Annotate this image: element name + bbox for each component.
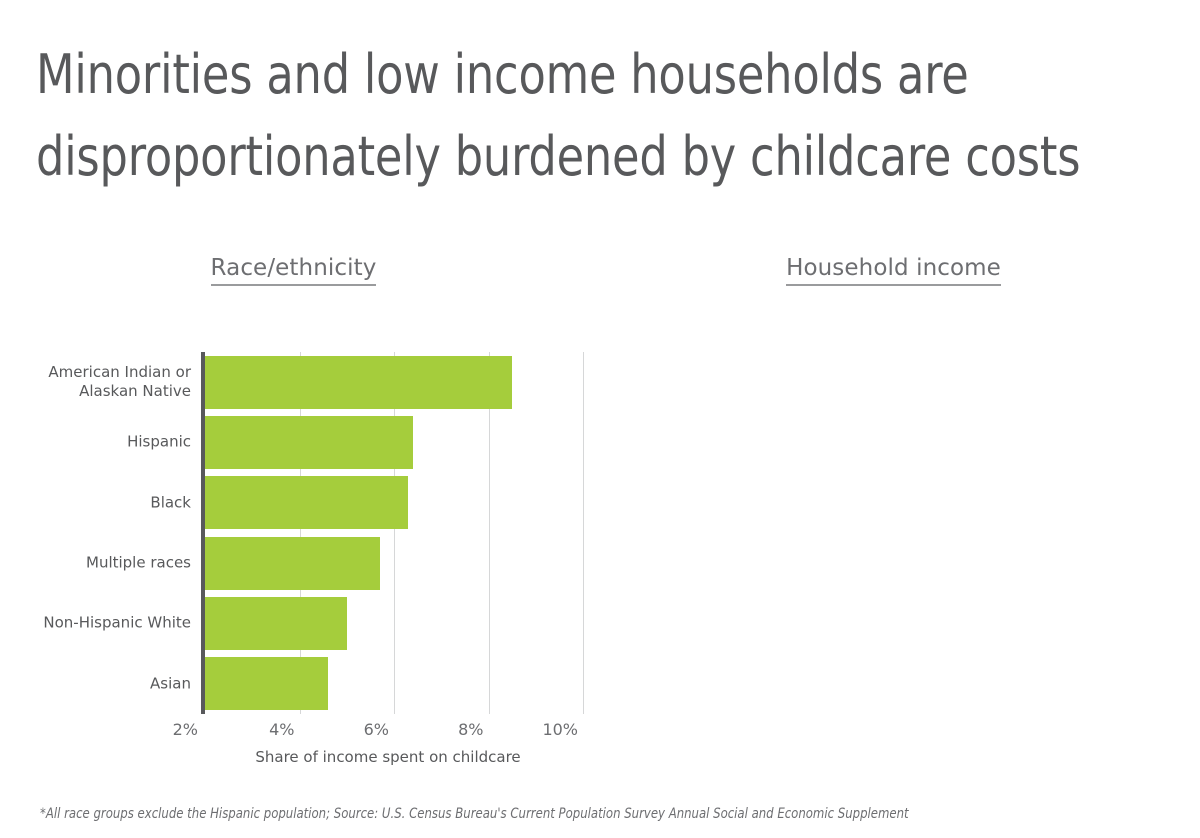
category-label: $75-$100K bbox=[1070, 596, 1200, 615]
bar[interactable] bbox=[205, 537, 380, 590]
x-tick-label: 8% bbox=[458, 720, 488, 739]
bar[interactable] bbox=[205, 597, 347, 650]
bar-row[interactable]: Multiple races bbox=[205, 537, 380, 590]
bar-series-race: American Indian or Alaskan NativeHispani… bbox=[205, 352, 583, 714]
chart-panel-race-ethnicity: Race/ethnicity American Indian or Alaska… bbox=[0, 255, 595, 281]
page-title-line-2: disproportionately burdened by childcare… bbox=[36, 116, 1066, 198]
chart-subtitle-race-ethnicity-text: Race/ethnicity bbox=[211, 255, 377, 286]
bar-row[interactable]: Asian bbox=[205, 657, 328, 710]
chart-subtitle-household-income: Household income bbox=[587, 255, 1200, 281]
x-tick-label: 4% bbox=[269, 720, 299, 739]
category-label: American Indian or Alaskan Native bbox=[0, 363, 191, 401]
category-label: Multiple races bbox=[0, 554, 191, 573]
footnote-source: *All race groups exclude the Hispanic po… bbox=[40, 806, 909, 822]
bar[interactable] bbox=[205, 657, 328, 710]
category-label: $50-$75K bbox=[1070, 523, 1200, 542]
category-label: Hispanic bbox=[0, 433, 191, 452]
category-label: Asian bbox=[0, 674, 191, 693]
bar-row[interactable]: Non-Hispanic White bbox=[205, 597, 347, 650]
x-tick-label: 2% bbox=[173, 720, 205, 739]
plot-area-race-ethnicity: American Indian or Alaskan NativeHispani… bbox=[205, 352, 583, 714]
category-label: $0-$25K bbox=[1070, 379, 1200, 398]
bar[interactable] bbox=[205, 356, 512, 409]
chart-panel-household-income: Household income $0-$25K$25-$50K$50-$75K… bbox=[595, 255, 1200, 281]
page-title: Minorities and low income households are… bbox=[36, 34, 1156, 198]
category-label: $25-$50K bbox=[1070, 451, 1200, 470]
bar-row[interactable]: American Indian or Alaskan Native bbox=[205, 356, 512, 409]
category-label: Non-Hispanic White bbox=[0, 614, 191, 633]
x-tick-label: 10% bbox=[542, 720, 583, 739]
page-title-line-1: Minorities and low income households are bbox=[36, 34, 1066, 116]
chart-subtitle-household-income-text: Household income bbox=[786, 255, 1001, 286]
bar-row[interactable]: Black bbox=[205, 476, 408, 529]
bar-row[interactable]: Hispanic bbox=[205, 416, 413, 469]
x-axis-title-race: Share of income spent on childcare bbox=[199, 748, 577, 766]
gridline bbox=[583, 352, 584, 714]
x-tick-label: 6% bbox=[364, 720, 394, 739]
bar[interactable] bbox=[205, 416, 413, 469]
chart-subtitle-race-ethnicity: Race/ethnicity bbox=[0, 255, 595, 281]
category-label: $100K+ bbox=[1070, 668, 1200, 687]
category-label: Black bbox=[0, 493, 191, 512]
bar[interactable] bbox=[205, 476, 408, 529]
